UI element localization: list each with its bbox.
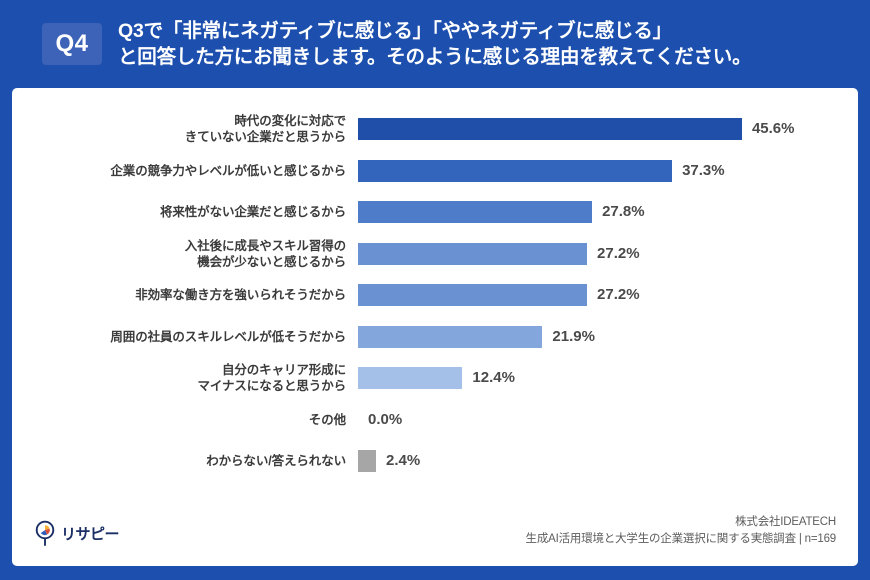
brand-logo-label: リサピー xyxy=(61,523,119,544)
magnifier-pin-icon xyxy=(34,520,56,546)
bar-segment xyxy=(358,450,376,472)
content-panel: 時代の変化に対応で きていない企業だと思うから45.6%企業の競争力やレベルが低… xyxy=(12,88,858,566)
bar-category-label: わからない/答えられない xyxy=(46,453,346,469)
bar-value-label: 27.2% xyxy=(597,284,640,306)
slide-footer: リサピー 株式会社IDEATECH 生成AI活用環境と大学生の企業選択に関する実… xyxy=(12,506,858,566)
bar-value-label: 0.0% xyxy=(368,409,402,431)
bar-segment xyxy=(358,367,462,389)
bar-chart: 時代の変化に対応で きていない企業だと思うから45.6%企業の競争力やレベルが低… xyxy=(12,88,858,506)
bar-segment xyxy=(358,118,742,140)
bar-category-label: 周囲の社員のスキルレベルが低そうだから xyxy=(46,329,346,345)
question-title-line-2: と回答した方にお聞きします。そのように感じる理由を教えてください。 xyxy=(118,44,751,70)
footer-company: 株式会社IDEATECH xyxy=(526,514,836,531)
footer-survey-info: 生成AI活用環境と大学生の企業選択に関する実態調査 | n=169 xyxy=(526,531,836,548)
brand-logo: リサピー xyxy=(34,520,119,546)
bar-category-label: 入社後に成長やスキル習得の 機会が少ないと感じるから xyxy=(46,238,346,270)
bar-segment xyxy=(358,160,672,182)
question-number-badge: Q4 xyxy=(42,23,102,65)
question-title-line-1: Q3で「非常にネガティブに感じる」「ややネガティブに感じる」 xyxy=(118,18,751,44)
bar-segment xyxy=(358,326,542,348)
bar-category-label: 自分のキャリア形成に マイナスになると思うから xyxy=(46,362,346,394)
bar-segment xyxy=(358,201,592,223)
slide-root: Q4 Q3で「非常にネガティブに感じる」「ややネガティブに感じる」 と回答した方… xyxy=(0,0,870,580)
bar-value-label: 27.8% xyxy=(602,201,645,223)
bar-category-label: 企業の競争力やレベルが低いと感じるから xyxy=(46,163,346,179)
bar-value-label: 37.3% xyxy=(682,160,725,182)
bar-value-label: 27.2% xyxy=(597,243,640,265)
bar-value-label: 21.9% xyxy=(552,326,595,348)
question-number-label: Q4 xyxy=(55,32,88,56)
bar-category-label: 将来性がない企業だと感じるから xyxy=(46,204,346,220)
bar-value-label: 2.4% xyxy=(386,450,420,472)
footer-meta: 株式会社IDEATECH 生成AI活用環境と大学生の企業選択に関する実態調査 |… xyxy=(526,514,836,548)
bar-value-label: 45.6% xyxy=(752,118,795,140)
bar-category-label: 非効率な働き方を強いられそうだから xyxy=(46,287,346,303)
bar-segment xyxy=(358,243,587,265)
bar-value-label: 12.4% xyxy=(472,367,515,389)
question-title: Q3で「非常にネガティブに感じる」「ややネガティブに感じる」 と回答した方にお聞… xyxy=(118,18,751,70)
bar-segment xyxy=(358,284,587,306)
bar-category-label: その他 xyxy=(46,412,346,428)
slide-header: Q4 Q3で「非常にネガティブに感じる」「ややネガティブに感じる」 と回答した方… xyxy=(0,0,870,88)
bar-category-label: 時代の変化に対応で きていない企業だと思うから xyxy=(46,113,346,145)
